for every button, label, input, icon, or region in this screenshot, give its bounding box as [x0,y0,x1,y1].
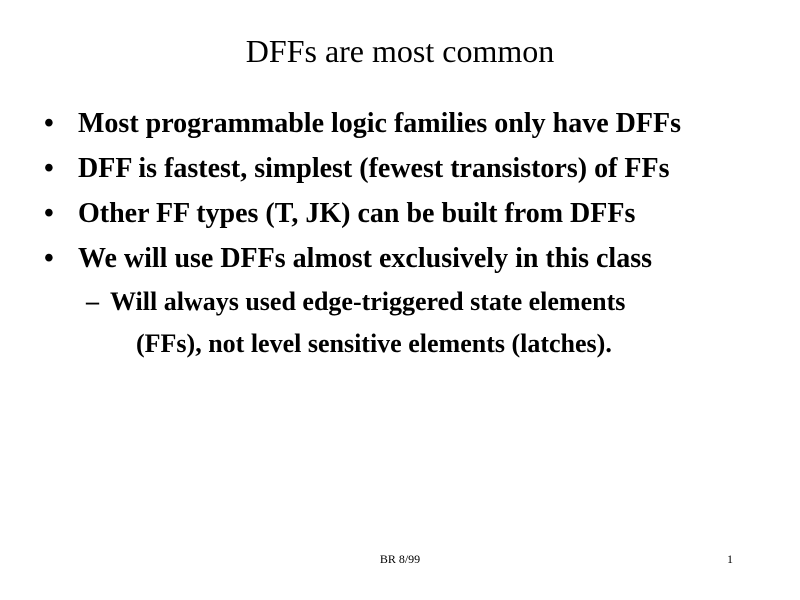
list-item-label: Most programmable logic families only ha… [78,101,774,146]
footer-page-number: 1 [690,551,770,567]
bullet-dash-icon: – [86,281,110,323]
bullet-dot-icon: • [44,101,78,146]
sub-list-item: – Will always used edge-triggered state … [44,281,774,365]
sub-list-item-label: Will always used edge-triggered state el… [110,281,750,365]
list-item-label: DFF is fastest, simplest (fewest transis… [78,146,774,191]
sub-list-item-line-1: Will always used edge-triggered state el… [110,281,750,323]
slide-canvas: DFFs are most common • Most programmable… [0,0,800,600]
bullet-dot-icon: • [44,236,78,281]
list-item: • Other FF types (T, JK) can be built fr… [44,191,774,236]
list-item: • Most programmable logic families only … [44,101,774,146]
sub-list-item-line-2: (FFs), not level sensitive elements (lat… [110,323,750,365]
list-item: • We will use DFFs almost exclusively in… [44,236,774,281]
bullet-list: • Most programmable logic families only … [44,101,774,365]
list-item-label: We will use DFFs almost exclusively in t… [78,236,774,281]
footer-author-date: BR 8/99 [0,551,800,567]
bullet-dot-icon: • [44,191,78,236]
page-title: DFFs are most common [0,32,800,70]
bullet-dot-icon: • [44,146,78,191]
list-item: • DFF is fastest, simplest (fewest trans… [44,146,774,191]
list-item-label: Other FF types (T, JK) can be built from… [78,191,774,236]
